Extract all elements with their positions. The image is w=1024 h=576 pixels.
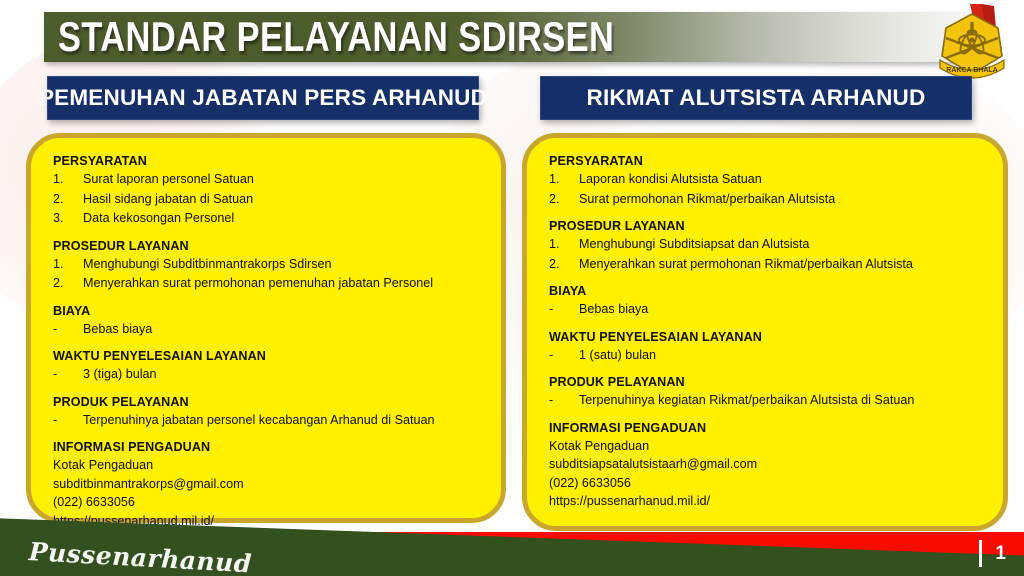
service-list-item: -Bebas biaya xyxy=(549,300,985,320)
contact-link[interactable]: subditsiapsatalutsistaarh@gmail.com xyxy=(549,455,985,474)
list-item-marker: 2. xyxy=(53,190,83,210)
service-section-title: PROSEDUR LAYANAN xyxy=(549,219,985,233)
contact-line: Kotak Pengaduan xyxy=(53,456,483,475)
list-item-text: Menyerahkan surat permohonan Rikmat/perb… xyxy=(579,255,985,275)
contact-link[interactable]: https://pussenarhanud.mil.id/ xyxy=(549,492,985,511)
list-item-text: Data kekosongan Personel xyxy=(83,209,483,229)
service-list-item: 2.Hasil sidang jabatan di Satuan xyxy=(53,190,483,210)
list-item-text: Menghubungi Subditbinmantrakorps Sdirsen xyxy=(83,255,483,275)
list-item-marker: 1. xyxy=(549,235,579,255)
service-list-item: -3 (tiga) bulan xyxy=(53,365,483,385)
column-banner-right: RIKMAT ALUTSISTA ARHANUD xyxy=(540,76,972,120)
service-list-item: -1 (satu) bulan xyxy=(549,346,985,366)
service-section: INFORMASI PENGADUANKotak Pengaduansubdit… xyxy=(53,440,483,531)
service-section: WAKTU PENYELESAIAN LAYANAN-3 (tiga) bula… xyxy=(53,349,483,385)
list-item-marker: - xyxy=(549,391,579,411)
service-section-title: WAKTU PENYELESAIAN LAYANAN xyxy=(53,349,483,363)
column-banner-left: PEMENUHAN JABATAN PERS ARHANUD xyxy=(47,76,479,120)
list-item-marker: - xyxy=(53,365,83,385)
list-item-text: Menyerahkan surat permohonan pemenuhan j… xyxy=(83,274,483,294)
service-section: PRODUK PELAYANAN-Terpenuhinya jabatan pe… xyxy=(53,395,483,431)
slide-title-bar: STANDAR PELAYANAN SDIRSEN xyxy=(44,12,984,62)
service-section-title: BIAYA xyxy=(549,284,985,298)
page-number-divider xyxy=(979,540,982,567)
list-item-text: 1 (satu) bulan xyxy=(579,346,985,366)
service-card-right: PERSYARATAN1.Laporan kondisi Alutsista S… xyxy=(522,133,1008,531)
pussenarhanud-emblem-icon: RAKCA BHALA xyxy=(926,2,1018,80)
list-item-text: Bebas biaya xyxy=(579,300,985,320)
list-item-text: Terpenuhinya jabatan personel kecabangan… xyxy=(83,411,483,431)
service-section-title: PROSEDUR LAYANAN xyxy=(53,239,483,253)
service-section-title: INFORMASI PENGADUAN xyxy=(53,440,483,454)
list-item-text: Bebas biaya xyxy=(83,320,483,340)
service-section: PRODUK PELAYANAN-Terpenuhinya kegiatan R… xyxy=(549,375,985,411)
service-section: INFORMASI PENGADUANKotak Pengaduansubdit… xyxy=(549,421,985,512)
list-item-marker: - xyxy=(53,411,83,431)
service-section: BIAYA-Bebas biaya xyxy=(549,284,985,320)
service-list-item: 2.Menyerahkan surat permohonan Rikmat/pe… xyxy=(549,255,985,275)
service-list-item: 2.Menyerahkan surat permohonan pemenuhan… xyxy=(53,274,483,294)
service-section-title: WAKTU PENYELESAIAN LAYANAN xyxy=(549,330,985,344)
list-item-text: Terpenuhinya kegiatan Rikmat/perbaikan A… xyxy=(579,391,985,411)
service-section-title: PERSYARATAN xyxy=(549,154,985,168)
list-item-marker: 2. xyxy=(549,255,579,275)
page-number: 1 xyxy=(995,543,1006,565)
service-section-title: PERSYARATAN xyxy=(53,154,483,168)
contact-line: (022) 6633056 xyxy=(53,493,483,512)
service-section-title: INFORMASI PENGADUAN xyxy=(549,421,985,435)
slide-canvas: STANDAR PELAYANAN SDIRSEN RAKCA B xyxy=(0,0,1024,576)
list-item-marker: 1. xyxy=(549,170,579,190)
service-list-item: 1.Surat laporan personel Satuan xyxy=(53,170,483,190)
list-item-marker: - xyxy=(549,346,579,366)
service-section: PERSYARATAN1.Laporan kondisi Alutsista S… xyxy=(549,154,985,209)
service-section: WAKTU PENYELESAIAN LAYANAN-1 (satu) bula… xyxy=(549,330,985,366)
service-section: PERSYARATAN1.Surat laporan personel Satu… xyxy=(53,154,483,229)
service-list-item: 2.Surat permohonan Rikmat/perbaikan Alut… xyxy=(549,190,985,210)
page-title: STANDAR PELAYANAN SDIRSEN xyxy=(58,13,614,61)
list-item-marker: - xyxy=(53,320,83,340)
service-list-item: -Terpenuhinya jabatan personel kecabanga… xyxy=(53,411,483,431)
svg-text:RAKCA BHALA: RAKCA BHALA xyxy=(946,67,997,74)
service-list-item: -Terpenuhinya kegiatan Rikmat/perbaikan … xyxy=(549,391,985,411)
list-item-marker: 1. xyxy=(53,170,83,190)
list-item-marker: 3. xyxy=(53,209,83,229)
service-card-left: PERSYARATAN1.Surat laporan personel Satu… xyxy=(26,133,506,523)
service-list-item: 3.Data kekosongan Personel xyxy=(53,209,483,229)
service-list-item: 1.Menghubungi Subditsiapsat dan Alutsist… xyxy=(549,235,985,255)
service-section-title: BIAYA xyxy=(53,304,483,318)
service-list-item: -Bebas biaya xyxy=(53,320,483,340)
contact-link[interactable]: subditbinmantrakorps@gmail.com xyxy=(53,475,483,494)
contact-line: (022) 6633056 xyxy=(549,474,985,493)
list-item-marker: 1. xyxy=(53,255,83,275)
contact-line: Kotak Pengaduan xyxy=(549,437,985,456)
service-section-title: PRODUK PELAYANAN xyxy=(549,375,985,389)
list-item-text: Hasil sidang jabatan di Satuan xyxy=(83,190,483,210)
service-section-title: PRODUK PELAYANAN xyxy=(53,395,483,409)
list-item-marker: - xyxy=(549,300,579,320)
list-item-text: Surat permohonan Rikmat/perbaikan Alutsi… xyxy=(579,190,985,210)
column-banner-right-label: RIKMAT ALUTSISTA ARHANUD xyxy=(587,85,926,111)
service-list-item: 1.Menghubungi Subditbinmantrakorps Sdirs… xyxy=(53,255,483,275)
list-item-marker: 2. xyxy=(53,274,83,294)
service-list-item: 1.Laporan kondisi Alutsista Satuan xyxy=(549,170,985,190)
list-item-text: Laporan kondisi Alutsista Satuan xyxy=(579,170,985,190)
list-item-text: Menghubungi Subditsiapsat dan Alutsista xyxy=(579,235,985,255)
service-section: PROSEDUR LAYANAN1.Menghubungi Subditsiap… xyxy=(549,219,985,274)
service-section: PROSEDUR LAYANAN1.Menghubungi Subditbinm… xyxy=(53,239,483,294)
list-item-text: Surat laporan personel Satuan xyxy=(83,170,483,190)
list-item-text: 3 (tiga) bulan xyxy=(83,365,483,385)
column-banner-left-label: PEMENUHAN JABATAN PERS ARHANUD xyxy=(39,85,487,111)
service-section: BIAYA-Bebas biaya xyxy=(53,304,483,340)
list-item-marker: 2. xyxy=(549,190,579,210)
